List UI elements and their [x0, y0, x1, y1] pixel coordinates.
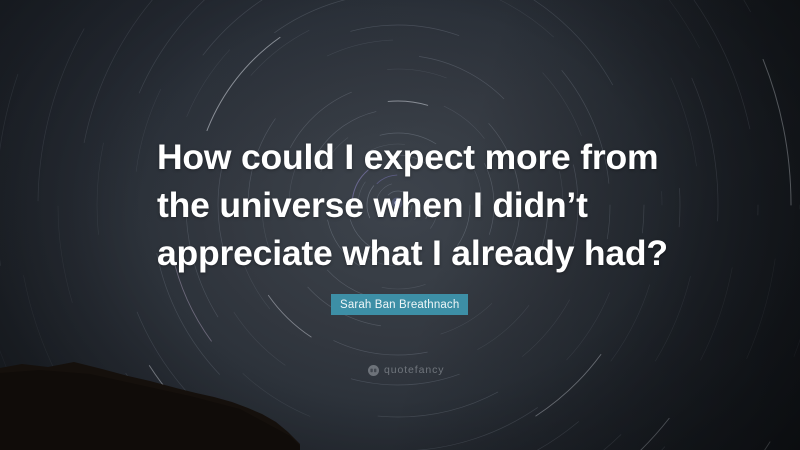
quote-text-block: How could I expect more from the univers… [157, 133, 667, 277]
watermark-label: quotefancy [384, 364, 444, 376]
rock-silhouette [0, 340, 300, 450]
quote-line-1: How could I expect more from [157, 133, 667, 181]
quote-line-3: appreciate what I already had? [157, 229, 667, 277]
quote-poster: How could I expect more from the univers… [0, 0, 800, 450]
author-name-badge: Sarah Ban Breathnach [331, 294, 468, 315]
quotefancy-watermark: quotefancy [368, 364, 444, 376]
author-name-label: Sarah Ban Breathnach [340, 299, 459, 311]
quote-mark-circle-icon [368, 365, 379, 376]
quote-line-2: the universe when I didn’t [157, 181, 667, 229]
